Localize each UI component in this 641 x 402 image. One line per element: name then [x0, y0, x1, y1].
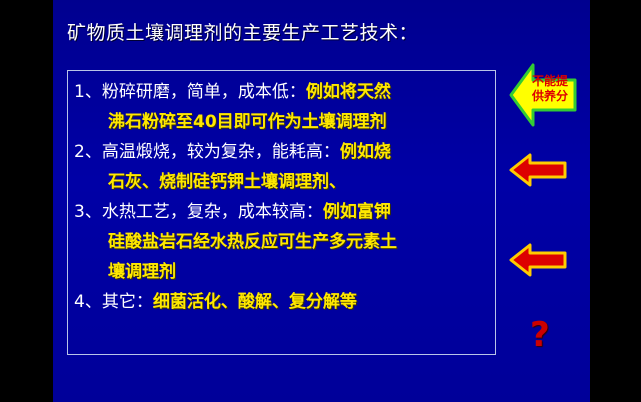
list-item: 2、高温煅烧，较为复杂，能耗高：例如烧 — [74, 137, 491, 167]
letterbox-left-bar — [0, 0, 53, 402]
question-mark-icon: ? — [530, 315, 550, 355]
list-item-number: 3、 — [74, 202, 102, 222]
list-item-example: 例如将天然 — [306, 82, 391, 102]
left-arrow-callout-icon: 不能提 供养分 — [509, 62, 577, 128]
list-item: 4、其它：细菌活化、酸解、复分解等 — [74, 287, 491, 317]
list-item-example: 细菌活化、酸解、复分解等 — [153, 292, 357, 312]
slide-canvas: 矿物质土壤调理剂的主要生产工艺技术： 1、粉碎研磨，简单，成本低：例如将天然 沸… — [53, 0, 590, 402]
content-box: 1、粉碎研磨，简单，成本低：例如将天然 沸石粉碎至40目即可作为土壤调理剂 2、… — [67, 70, 496, 355]
list-item-head: 水热工艺，复杂，成本较高： — [102, 202, 323, 222]
callout-text: 不能提 供养分 — [525, 74, 575, 104]
letterbox-right-bar — [590, 0, 641, 402]
list-item-number: 2、 — [74, 142, 102, 162]
list-item-number: 1、 — [74, 82, 102, 102]
list-item-number: 4、 — [74, 292, 102, 312]
left-arrow-icon — [508, 151, 568, 189]
list-item-example: 例如烧 — [340, 142, 391, 162]
list-item: 3、水热工艺，复杂，成本较高：例如富钾 — [74, 197, 491, 227]
callout-line-1: 不能提 — [525, 74, 575, 89]
callout-line-2: 供养分 — [525, 89, 575, 104]
list-item-continuation: 沸石粉碎至40目即可作为土壤调理剂 — [74, 107, 491, 137]
list-item-head: 其它： — [102, 292, 153, 312]
list-item-continuation: 石灰、烧制硅钙钾土壤调理剂、 — [74, 167, 491, 197]
list-item-head: 高温煅烧，较为复杂，能耗高： — [102, 142, 340, 162]
list-item-example: 例如富钾 — [323, 202, 391, 222]
left-arrow-icon — [508, 241, 568, 279]
list-item: 1、粉碎研磨，简单，成本低：例如将天然 — [74, 77, 491, 107]
list-item-continuation: 硅酸盐岩石经水热反应可生产多元素土 — [74, 227, 491, 257]
slide-root: 矿物质土壤调理剂的主要生产工艺技术： 1、粉碎研磨，简单，成本低：例如将天然 沸… — [0, 0, 641, 402]
list-item-continuation: 壤调理剂 — [74, 257, 491, 287]
page-title: 矿物质土壤调理剂的主要生产工艺技术： — [67, 20, 537, 46]
list-item-head: 粉碎研磨，简单，成本低： — [102, 82, 306, 102]
